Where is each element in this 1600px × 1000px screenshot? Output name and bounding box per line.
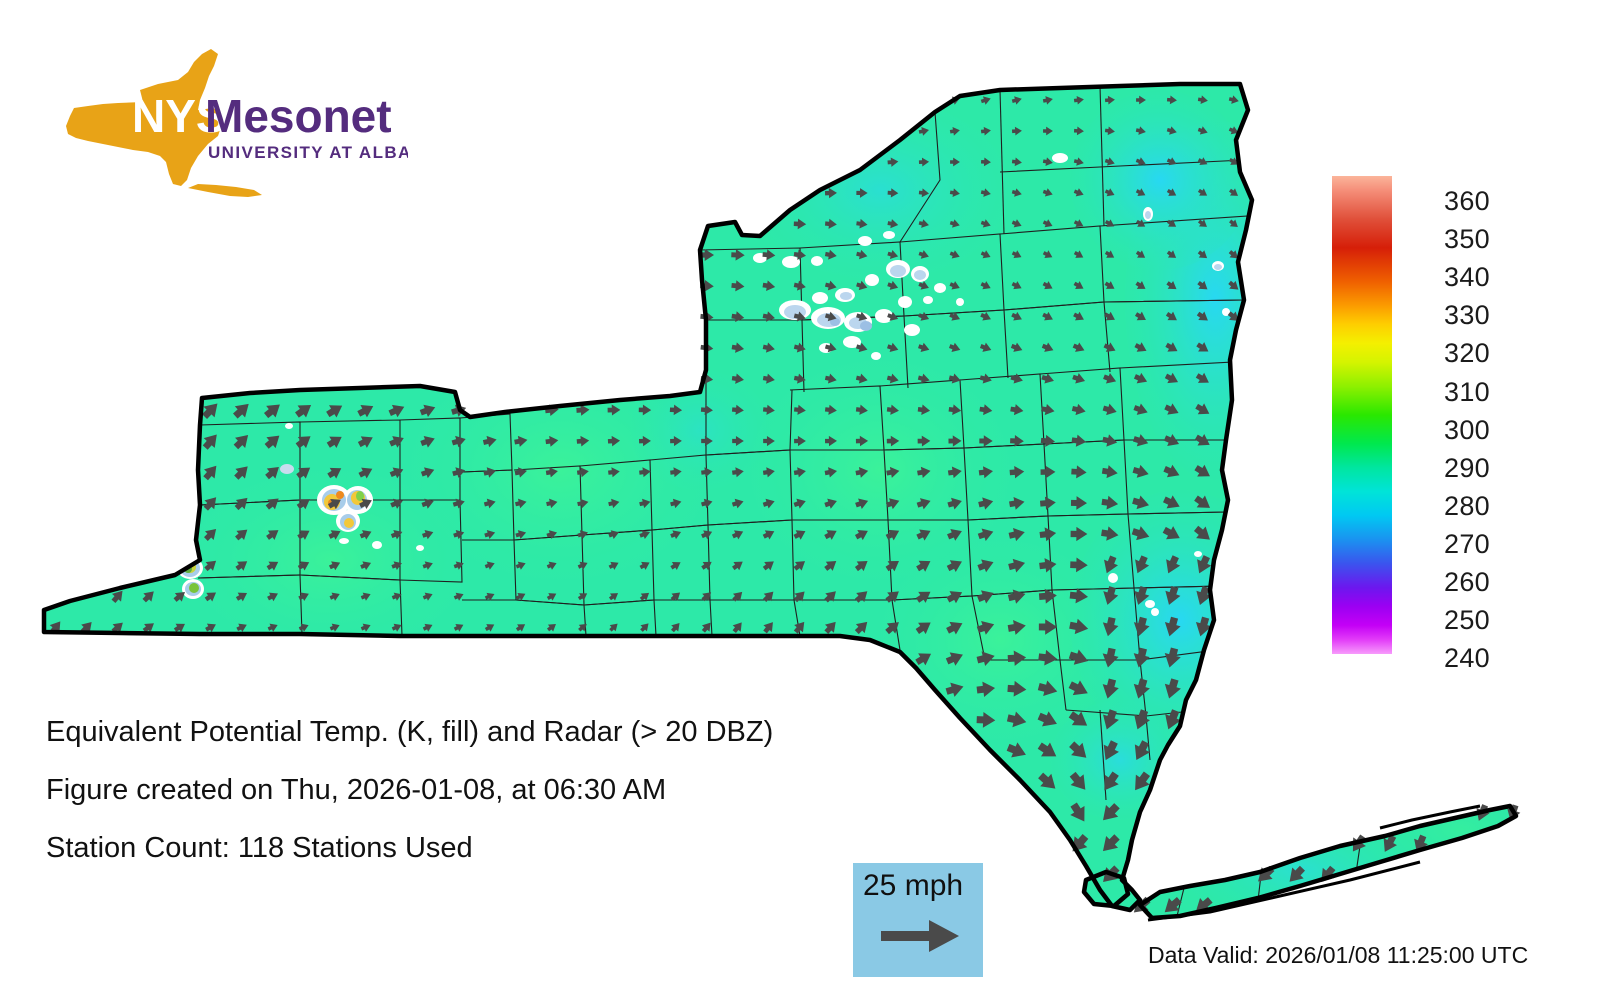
- colorbar-tick-260: 260: [1444, 569, 1490, 596]
- colorbar-tick-270: 270: [1444, 531, 1490, 558]
- colorbar-tick-labels: 360350340330320310300290280270260250240: [1444, 172, 1539, 662]
- colorbar-tick-350: 350: [1444, 226, 1490, 253]
- wind-reference-arrow-icon: [881, 918, 961, 954]
- figure-canvas: NYS Mesonet UNIVERSITY AT ALBANY: [0, 0, 1600, 1000]
- colorbar-tick-250: 250: [1444, 607, 1490, 634]
- caption-station-count: Station Count: 118 Stations Used: [46, 834, 926, 863]
- colorbar-tick-290: 290: [1444, 455, 1490, 482]
- caption-block: Equivalent Potential Temp. (K, fill) and…: [46, 718, 926, 892]
- colorbar: 360350340330320310300290280270260250240: [1304, 172, 1534, 662]
- colorbar-tick-360: 360: [1444, 188, 1490, 215]
- colorbar-tick-330: 330: [1444, 302, 1490, 329]
- colorbar-tick-280: 280: [1444, 493, 1490, 520]
- colorbar-tick-340: 340: [1444, 264, 1490, 291]
- data-valid-timestamp: Data Valid: 2026/01/08 11:25:00 UTC: [1148, 942, 1528, 969]
- colorbar-tick-240: 240: [1444, 645, 1490, 672]
- caption-title: Equivalent Potential Temp. (K, fill) and…: [46, 718, 926, 747]
- colorbar-tick-300: 300: [1444, 417, 1490, 444]
- wind-speed-legend: 25 mph: [853, 863, 983, 977]
- caption-created: Figure created on Thu, 2026-01-08, at 06…: [46, 776, 926, 805]
- wind-legend-label: 25 mph: [863, 869, 963, 903]
- colorbar-tick-320: 320: [1444, 340, 1490, 367]
- colorbar-tick-310: 310: [1444, 379, 1490, 406]
- colorbar-gradient: [1332, 176, 1392, 654]
